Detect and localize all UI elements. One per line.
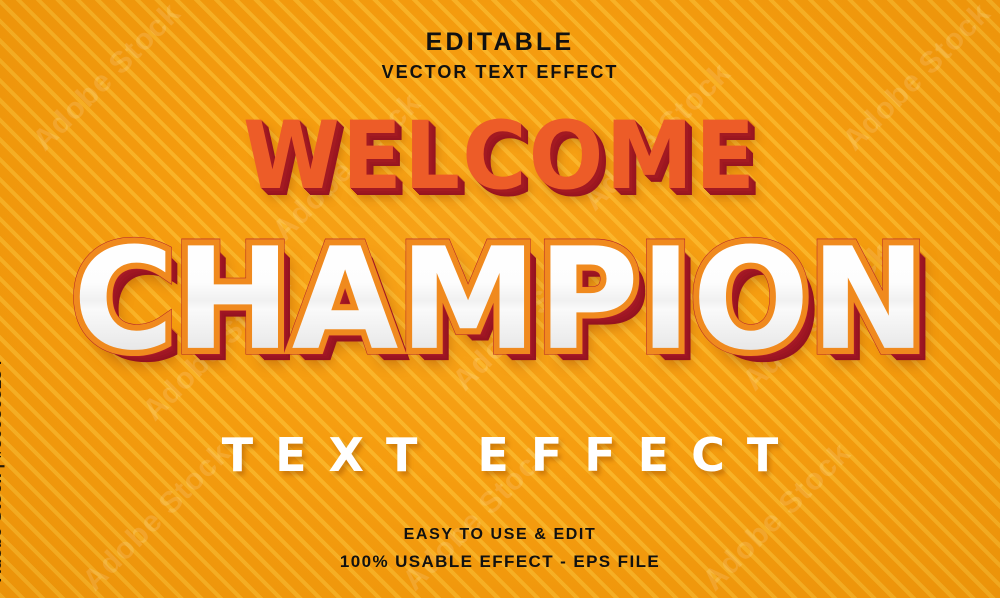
champion-headline: CHAMPION CHAMPION CHAMPION bbox=[0, 228, 1000, 388]
stock-image-canvas: Adobe StockAdobe StockAdobe StockAdobe S… bbox=[0, 0, 1000, 598]
easy-to-use-note: EASY TO USE & EDIT bbox=[0, 526, 1000, 544]
adobe-stock-id-caption: Adobe Stock | #509363184 bbox=[0, 360, 6, 582]
welcome-headline: WELCOME bbox=[0, 109, 1000, 202]
vector-text-effect-subheading: VECTOR TEXT EFFECT bbox=[0, 62, 1000, 83]
champion-face-layer: CHAMPION bbox=[0, 227, 1000, 375]
eps-file-note: 100% USABLE EFFECT - EPS FILE bbox=[0, 552, 1000, 572]
text-effect-headline: TEXT EFFECT bbox=[0, 428, 1000, 482]
editable-heading: EDITABLE bbox=[0, 28, 1000, 57]
